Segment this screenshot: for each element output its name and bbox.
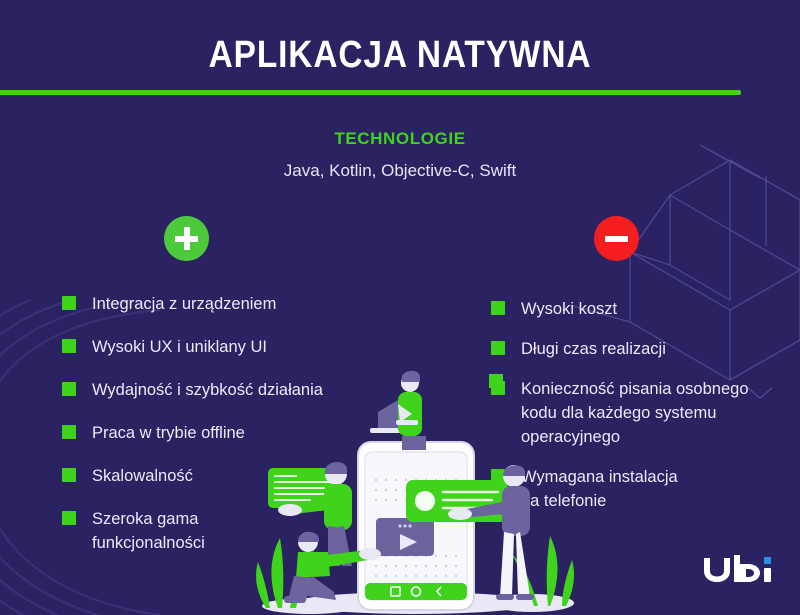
title-underline <box>0 90 741 95</box>
person-laptop <box>370 371 426 450</box>
page-title: APLIKACJA NATYWNA <box>48 34 752 77</box>
minus-icon <box>594 216 639 261</box>
bullet-square-icon <box>62 339 76 353</box>
cons-item: Długi czas realizacji <box>491 337 791 361</box>
people-with-phone-illustration <box>250 370 580 615</box>
pros-item-label: Skalowalność <box>92 464 193 488</box>
bullet-square-icon <box>491 301 505 315</box>
pros-item: Integracja z urządzeniem <box>62 292 392 316</box>
bullet-square-icon <box>62 296 76 310</box>
slide-root: APLIKACJA NATYWNA TECHNOLOGIE Java, Kotl… <box>0 0 800 615</box>
pros-item: Wysoki UX i uniklany UI <box>62 335 392 359</box>
pros-item-label: Szeroka gamafunkcjonalności <box>92 507 205 555</box>
udi-logo[interactable] <box>700 555 774 585</box>
bullet-square-icon <box>62 382 76 396</box>
bullet-square-icon <box>62 468 76 482</box>
pros-item-label: Wysoki UX i uniklany UI <box>92 335 267 359</box>
technologies-heading: TECHNOLOGIE <box>0 129 800 149</box>
bullet-square-icon <box>62 425 76 439</box>
plus-bar-vertical <box>184 227 190 250</box>
pros-item-label: Praca w trybie offline <box>92 421 245 445</box>
bullet-square-icon <box>62 511 76 525</box>
technologies-list: Java, Kotlin, Objective-C, Swift <box>0 161 800 181</box>
cons-item: Wysoki koszt <box>491 297 791 321</box>
cons-item-label: Wysoki koszt <box>521 297 617 321</box>
pros-item-label: Integracja z urządzeniem <box>92 292 276 316</box>
minus-bar-horizontal <box>605 236 628 242</box>
bullet-square-icon <box>491 341 505 355</box>
cons-item-label: Długi czas realizacji <box>521 337 666 361</box>
plus-icon <box>164 216 209 261</box>
